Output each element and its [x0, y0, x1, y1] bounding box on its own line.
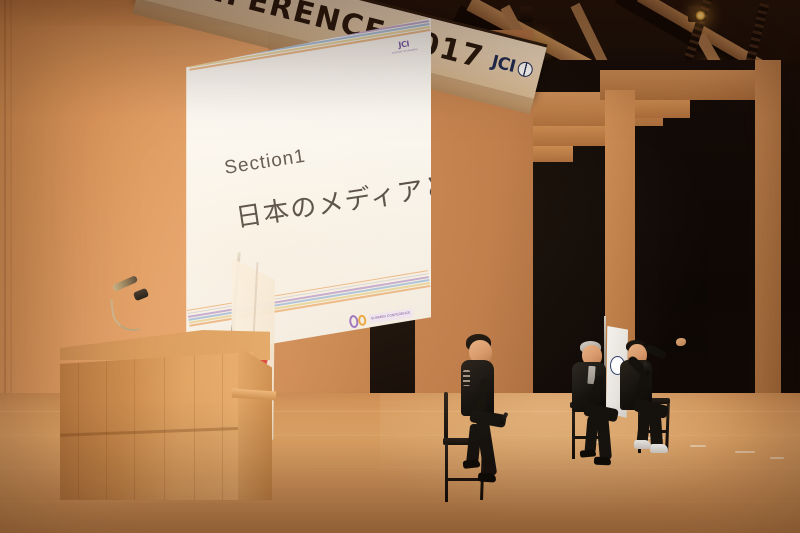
architectural-step — [630, 100, 690, 118]
ceiling-light-fixture — [520, 6, 533, 22]
white-sneaker — [634, 440, 651, 449]
projection-screen: JCI JUNIOR CHAMBER Section1 日本のメディアと政治 S… — [185, 18, 431, 358]
slide-logo-subtext: JUNIOR CHAMBER — [392, 48, 418, 55]
architectural-step — [533, 146, 573, 162]
projected-slide: JCI JUNIOR CHAMBER Section1 日本のメディアと政治 S… — [185, 18, 431, 358]
shoe — [580, 449, 597, 457]
slide-logo-bottom-right: SUMMER CONFERENCE — [349, 306, 414, 328]
slide-logo-text: JCI — [398, 39, 410, 49]
podium-front-panel — [60, 352, 253, 500]
orange-loop-icon — [358, 314, 368, 326]
architectural-pillar — [755, 60, 781, 420]
jci-logo: JCI — [490, 51, 535, 81]
slide-bottom-stripes — [187, 270, 431, 332]
slide-logo-top-right: JCI JUNIOR CHAMBER — [390, 38, 418, 55]
slide-section-label: Section1 — [223, 146, 307, 180]
hand — [676, 338, 686, 346]
stage-photo-scene: SUMMER CONFERENCE 2017 JCI JCI JUNIOR CH… — [0, 0, 800, 533]
shoe — [478, 472, 497, 482]
jci-logo-text: JCI — [490, 51, 518, 76]
spotlight — [695, 10, 706, 21]
podium — [60, 330, 270, 500]
shoe — [594, 457, 611, 466]
globe-icon — [516, 60, 534, 78]
architectural-step — [533, 126, 605, 146]
podium-trim-band — [60, 426, 256, 437]
podium-side-panel — [238, 346, 272, 500]
tshirt-sleeve-print — [463, 370, 470, 386]
slide-logo-caption: SUMMER CONFERENCE — [369, 309, 413, 324]
white-sneaker — [650, 444, 668, 453]
